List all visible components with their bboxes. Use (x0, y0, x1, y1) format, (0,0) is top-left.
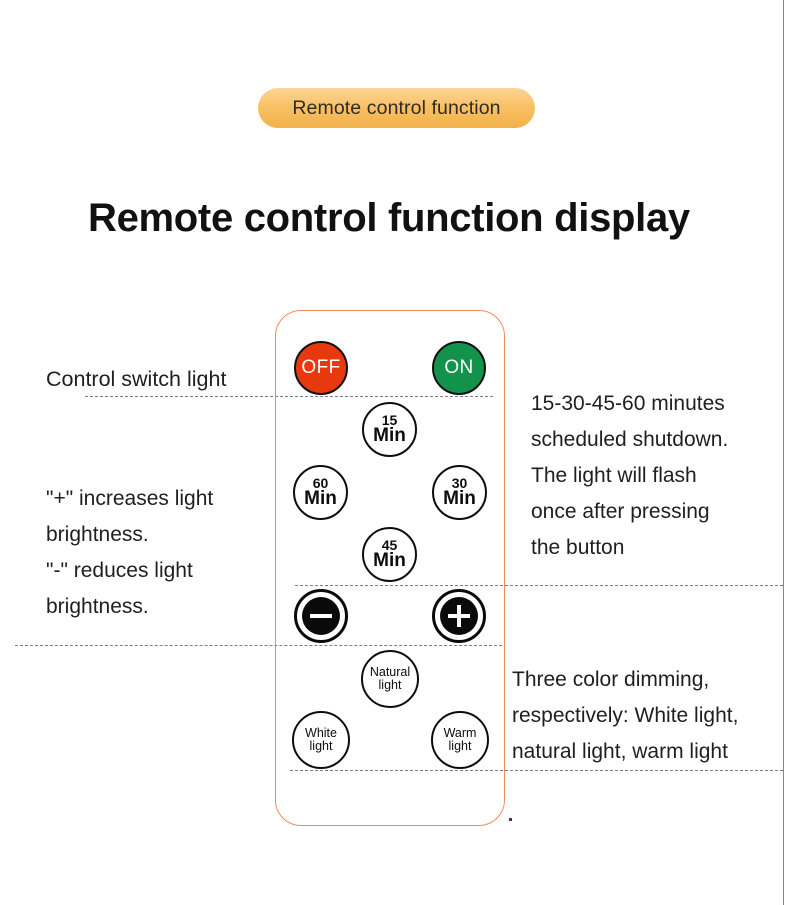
remote-button-off-label: OFF (301, 358, 340, 377)
plus-icon (440, 597, 478, 635)
annotation-timer-line4: once after pressing (531, 494, 783, 530)
remote-button-white-light-line2: light (310, 740, 333, 753)
annotation-color-line2: respectively: White light, (512, 698, 790, 734)
remote-button-on[interactable]: ON (432, 341, 486, 395)
annotation-brightness: "+" increases light brightness. "-" redu… (46, 481, 306, 625)
annotation-control-switch-line1: Control switch light (46, 361, 226, 398)
remote-button-30-min-unit: Min (443, 489, 476, 508)
remote-button-off[interactable]: OFF (294, 341, 348, 395)
remote-button-45-min[interactable]: 45 Min (362, 527, 417, 582)
remote-button-warm-light[interactable]: Warm light (431, 711, 489, 769)
remote-button-on-label: ON (444, 358, 473, 377)
remote-button-15-min[interactable]: 15 Min (362, 402, 417, 457)
annotation-brightness-line3: "-" reduces light (46, 553, 306, 589)
remote-button-natural-light[interactable]: Natural light (361, 650, 419, 708)
annotation-brightness-line4: brightness. (46, 589, 306, 625)
annotation-color-line3: natural light, warm light (512, 734, 790, 770)
remote-button-60-min-unit: Min (304, 489, 337, 508)
remote-button-warm-light-line2: light (449, 740, 472, 753)
annotation-color-line1: Three color dimming, (512, 662, 790, 698)
remote-button-45-min-unit: Min (373, 551, 406, 570)
annotation-timer-line5: the button (531, 530, 783, 566)
remote-button-15-min-unit: Min (373, 426, 406, 445)
annotation-timer-line3: The light will flash (531, 458, 783, 494)
remote-button-30-min[interactable]: 30 Min (432, 465, 487, 520)
annotation-brightness-line2: brightness. (46, 517, 306, 553)
remote-button-white-light[interactable]: White light (292, 711, 350, 769)
annotation-timer-line2: scheduled shutdown. (531, 422, 783, 458)
annotation-timer-line1: 15-30-45-60 minutes (531, 386, 783, 422)
annotation-timer: 15-30-45-60 minutes scheduled shutdown. … (531, 386, 783, 567)
page-title: Remote control function display (88, 196, 690, 241)
section-badge: Remote control function (258, 88, 535, 128)
annotation-control-switch: Control switch light (46, 361, 226, 398)
remote-button-natural-light-line2: light (379, 679, 402, 692)
remote-body-dot-mark (509, 818, 512, 821)
remote-button-brightness-up[interactable] (432, 589, 486, 643)
annotation-brightness-line1: "+" increases light (46, 481, 306, 517)
annotation-color-dimming: Three color dimming, respectively: White… (512, 662, 790, 770)
minus-icon (302, 597, 340, 635)
section-badge-label: Remote control function (292, 97, 500, 120)
